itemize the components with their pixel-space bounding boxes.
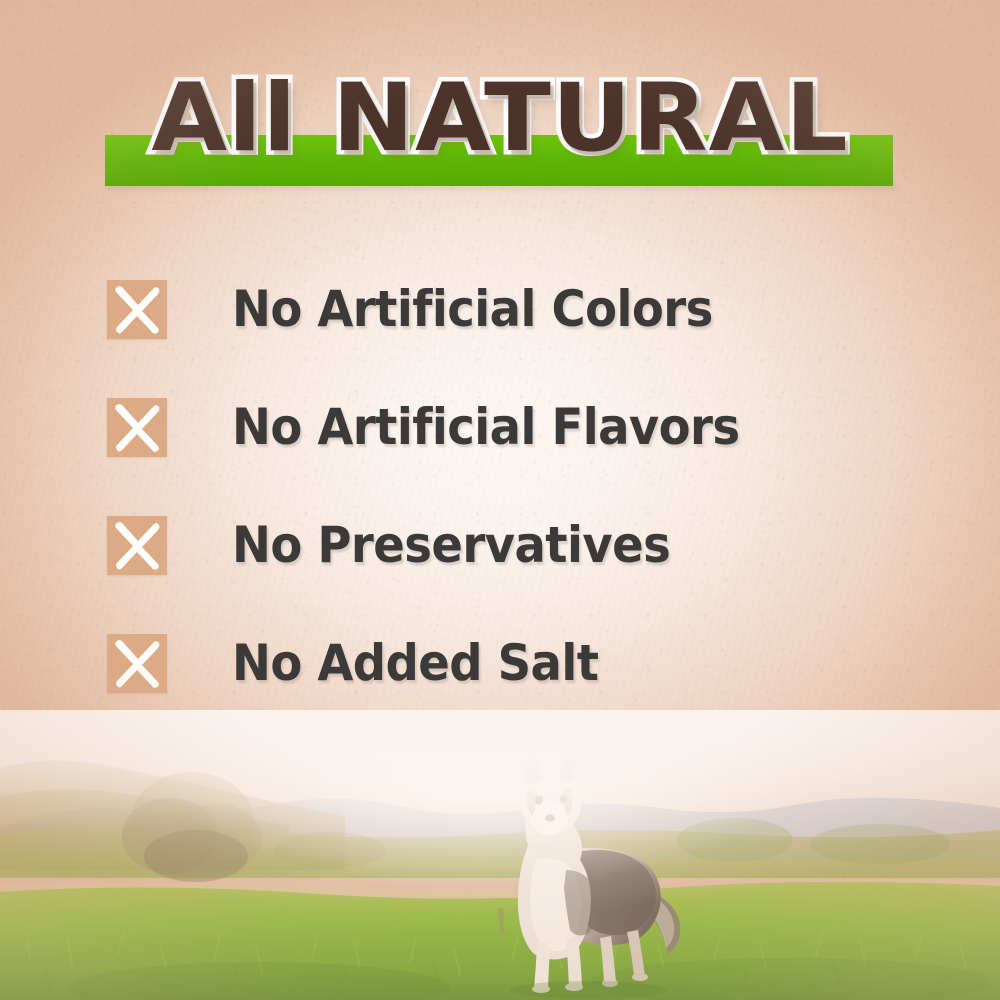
x-mark-icon: [107, 398, 167, 457]
feature-label: No Preservatives: [232, 516, 670, 574]
feature-item-no-artificial-flavors: No Artificial Flavors: [0, 368, 1000, 486]
feature-label: No Artificial Flavors: [232, 398, 740, 456]
x-mark-icon: [107, 280, 167, 339]
feature-label: No Artificial Colors: [232, 280, 713, 338]
headline-text: All NATURAL: [0, 60, 1000, 178]
feature-item-no-added-salt: No Added Salt: [0, 604, 1000, 722]
landscape-dog-photo: [0, 710, 1000, 1000]
x-mark-icon: [107, 634, 167, 693]
headline-block: All NATURAL: [0, 60, 1000, 205]
photo-illustration: [0, 710, 1000, 1000]
product-feature-panel: All NATURAL No Artificial Colors No Arti…: [0, 0, 1000, 1000]
feature-list: No Artificial Colors No Artificial Flavo…: [0, 250, 1000, 722]
feature-label: No Added Salt: [232, 634, 598, 692]
x-mark-icon: [107, 516, 167, 575]
feature-item-no-artificial-colors: No Artificial Colors: [0, 250, 1000, 368]
feature-item-no-preservatives: No Preservatives: [0, 486, 1000, 604]
